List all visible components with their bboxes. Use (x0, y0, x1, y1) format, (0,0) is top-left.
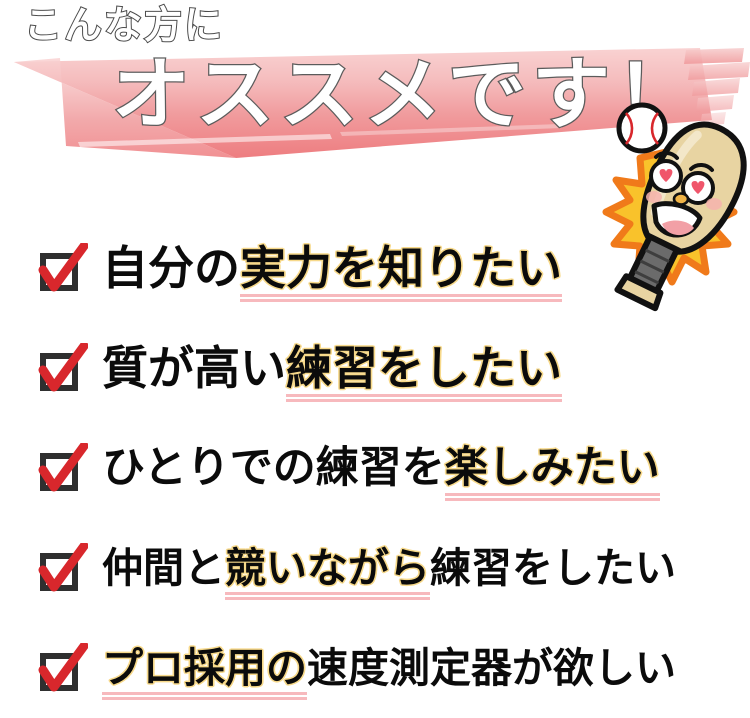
checklist-item-text: 質が高い練習をしたい (102, 345, 562, 391)
checklist-item-5[interactable]: プロ採用の速度測定器が欲しい (0, 618, 750, 718)
baseball-bat-mascot (588, 100, 750, 315)
plain-text-segment: 速度測定器が欲しい (307, 648, 676, 689)
checkmark-icon (36, 343, 88, 393)
checklist-item-text: 仲間と競いながら練習をしたい (102, 548, 676, 589)
checklist-item-2[interactable]: 質が高い練習をしたい (0, 318, 750, 418)
checkbox-checked-icon[interactable] (36, 243, 88, 293)
checklist-item-4[interactable]: 仲間と競いながら練習をしたい (0, 518, 750, 618)
checkmark-icon (36, 243, 88, 293)
checkmark-icon (36, 543, 88, 593)
plain-text-segment: 仲間と (102, 548, 225, 589)
plain-text-segment: 自分の (102, 245, 240, 291)
checklist-item-text: プロ採用の速度測定器が欲しい (102, 648, 676, 689)
plain-text-segment: 質が高い (102, 345, 286, 391)
checkbox-checked-icon[interactable] (36, 543, 88, 593)
plain-text-segment: 練習をしたい (430, 548, 676, 589)
highlighted-text-segment: 実力を知りたい (240, 245, 562, 291)
highlighted-text-segment: 楽しみたい (445, 447, 660, 490)
checklist-item-3[interactable]: ひとりでの練習を楽しみたい (0, 418, 750, 518)
baseball-icon (619, 105, 665, 151)
checklist-item-text: 自分の実力を知りたい (102, 245, 562, 291)
kicker-text: こんな方に (24, 6, 224, 44)
highlighted-text-segment: 競いながら (225, 548, 430, 589)
plain-text-segment: ひとりでの練習を (102, 447, 445, 490)
checklist-item-text: ひとりでの練習を楽しみたい (102, 447, 660, 490)
checkmark-icon (36, 643, 88, 693)
highlighted-text-segment: プロ採用の (102, 648, 307, 689)
checkbox-checked-icon[interactable] (36, 443, 88, 493)
checkmark-icon (36, 443, 88, 493)
checkbox-checked-icon[interactable] (36, 643, 88, 693)
checkbox-checked-icon[interactable] (36, 343, 88, 393)
highlighted-text-segment: 練習をしたい (286, 345, 562, 391)
